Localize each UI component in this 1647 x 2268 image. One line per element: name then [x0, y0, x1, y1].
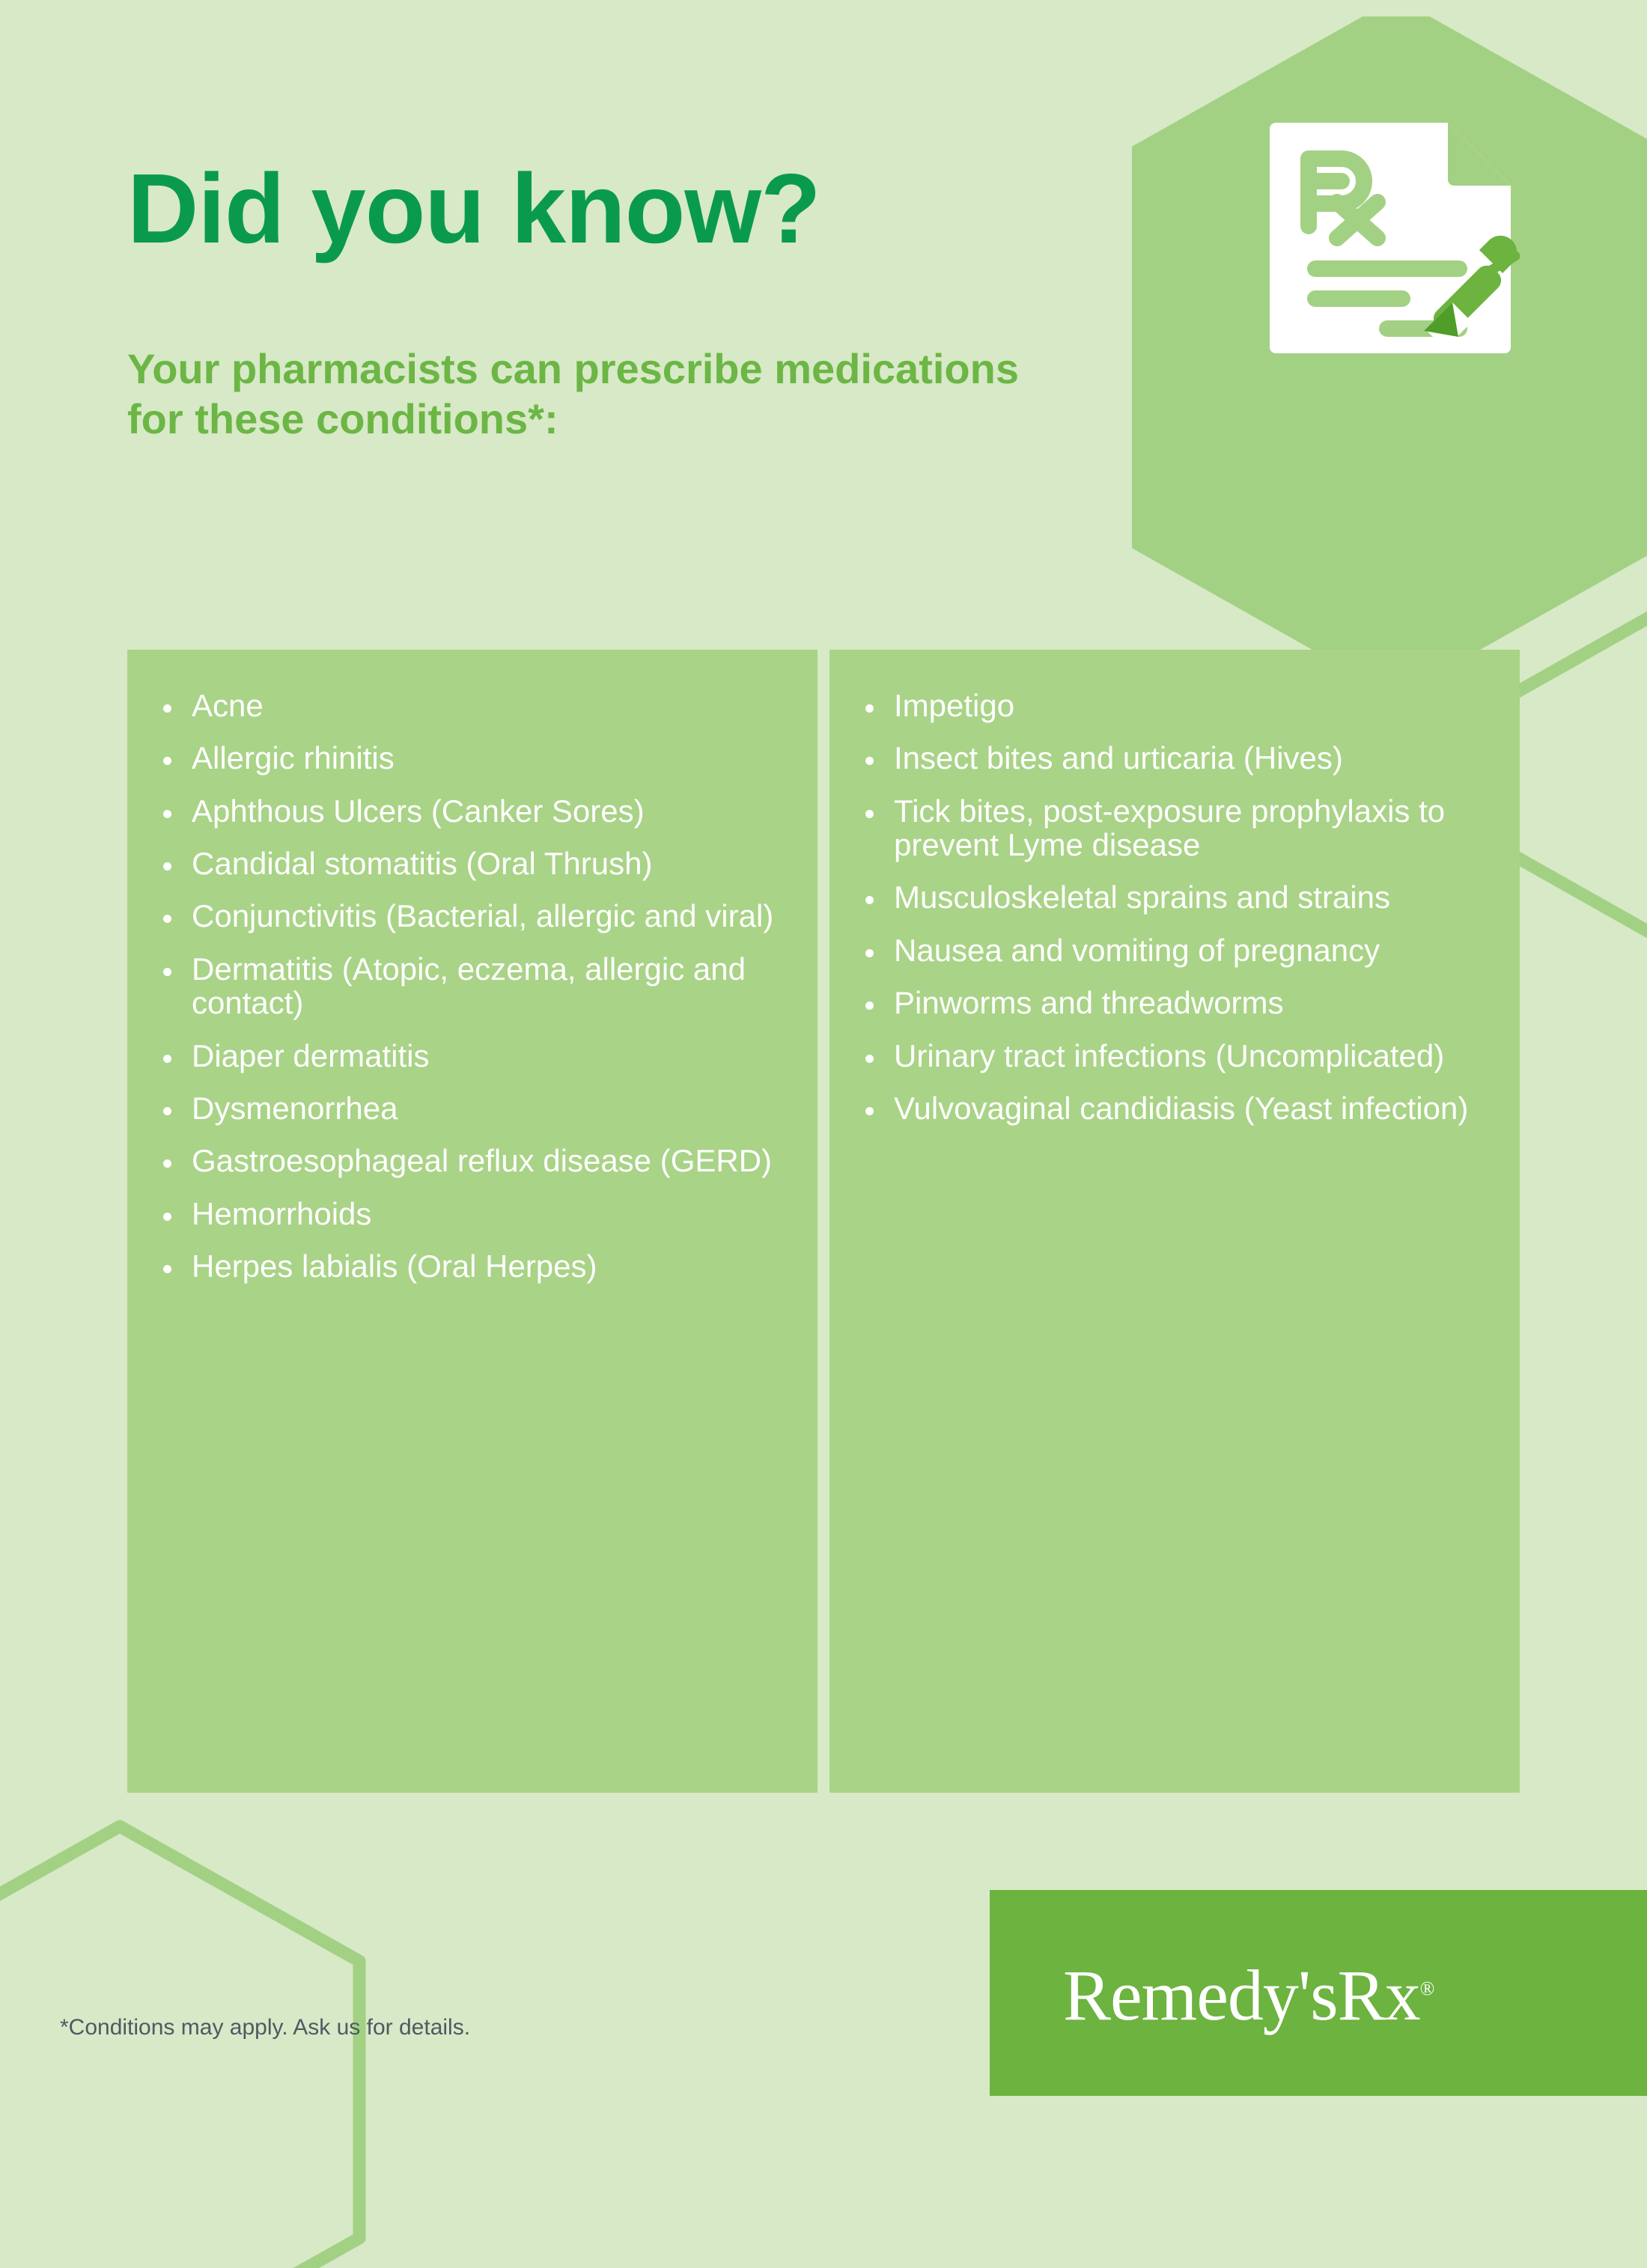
condition-list-item: Diaper dermatitis [157, 1039, 788, 1073]
condition-list-item: Impetigo [859, 689, 1490, 722]
hexagon-outline-right-shape [1501, 606, 1647, 943]
brand-name-text: Remedy'sRx [1063, 1955, 1420, 2035]
condition-list-item: Hemorrhoids [157, 1197, 788, 1231]
conditions-panel-left: AcneAllergic rhinitisAphthous Ulcers (Ca… [127, 650, 818, 1793]
conditions-list-right: ImpetigoInsect bites and urticaria (Hive… [859, 689, 1490, 1125]
footnote-text: *Conditions may apply. Ask us for detail… [60, 2015, 470, 2040]
condition-list-item: Aphthous Ulcers (Canker Sores) [157, 794, 788, 828]
condition-list-item: Conjunctivitis (Bacterial, allergic and … [157, 899, 788, 933]
registered-trademark-icon: ® [1420, 1978, 1435, 1999]
condition-list-item: Musculoskeletal sprains and strains [859, 880, 1490, 914]
condition-list-item: Dysmenorrhea [157, 1091, 788, 1125]
conditions-list-left: AcneAllergic rhinitisAphthous Ulcers (Ca… [157, 689, 788, 1283]
page-title: Did you know? [127, 157, 1123, 261]
page-subtitle: Your pharmacists can prescribe medicatio… [127, 344, 1063, 444]
condition-list-item: Pinworms and threadworms [859, 986, 1490, 1019]
hexagon-solid-shape [1132, 16, 1647, 678]
condition-list-item: Vulvovaginal candidiasis (Yeast infectio… [859, 1091, 1490, 1125]
condition-list-item: Tick bites, post-exposure prophylaxis to… [859, 794, 1490, 862]
condition-list-item: Insect bites and urticaria (Hives) [859, 741, 1490, 775]
conditions-panel-right: ImpetigoInsect bites and urticaria (Hive… [829, 650, 1520, 1793]
condition-list-item: Candidal stomatitis (Oral Thrush) [157, 847, 788, 880]
condition-list-item: Gastroesophageal reflux disease (GERD) [157, 1144, 788, 1177]
header-block: Did you know? Your pharmacists can presc… [127, 157, 1123, 444]
condition-list-item: Herpes labialis (Oral Herpes) [157, 1249, 788, 1283]
condition-list-item: Acne [157, 689, 788, 722]
condition-list-item: Urinary tract infections (Uncomplicated) [859, 1039, 1490, 1073]
brand-logo: Remedy'sRx® [1063, 1954, 1434, 2037]
hexagon-outline-bottom-shape [0, 1819, 367, 2268]
condition-list-item: Nausea and vomiting of pregnancy [859, 933, 1490, 967]
conditions-panels: AcneAllergic rhinitisAphthous Ulcers (Ca… [127, 650, 1520, 1793]
rx-prescription-with-pencil-icon [1265, 112, 1542, 359]
condition-list-item: Dermatitis (Atopic, eczema, allergic and… [157, 952, 788, 1020]
condition-list-item: Allergic rhinitis [157, 741, 788, 775]
